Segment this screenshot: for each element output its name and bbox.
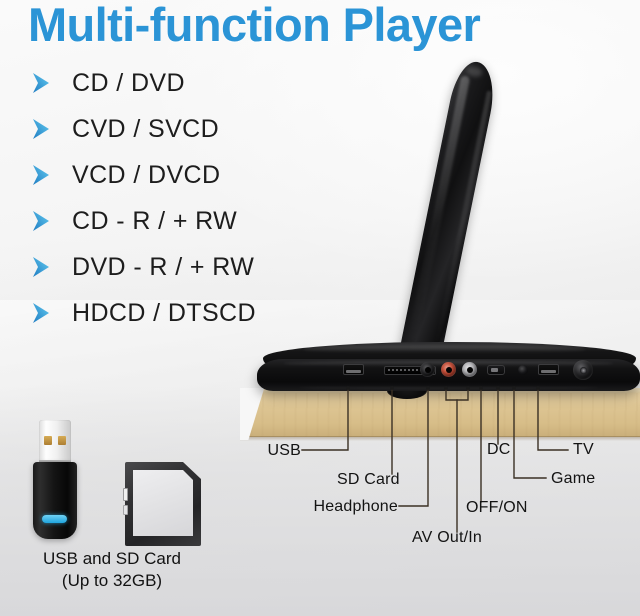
format-label: VCD / DVCD	[72, 161, 220, 190]
chevron-right-icon	[30, 71, 52, 95]
base-top-sheen	[303, 345, 586, 353]
shelf-left-bevel	[240, 388, 284, 440]
usb-drive-body	[33, 462, 77, 539]
format-item: CD - R / + RW	[30, 198, 256, 244]
format-label: HDCD / DTSCD	[72, 299, 256, 328]
format-item: CD / DVD	[30, 60, 256, 106]
media-support-caption: USB and SD Card (Up to 32GB)	[8, 548, 216, 593]
callout-label-tv: TV	[573, 441, 594, 459]
sd-write-protect-switch	[123, 488, 128, 501]
tv-jack-connector[interactable]	[573, 360, 593, 380]
av-out-jack-connector[interactable]	[441, 362, 456, 377]
portable-dvd-player	[255, 48, 640, 393]
supported-formats-list: CD / DVD CVD / SVCD VCD / DVCD	[30, 60, 256, 336]
chevron-right-icon	[30, 117, 52, 141]
base-bottom-highlight	[297, 386, 600, 389]
av-in-jack-connector[interactable]	[462, 362, 477, 377]
format-item: VCD / DVCD	[30, 152, 256, 198]
chevron-right-icon	[30, 255, 52, 279]
shelf-front-face	[240, 393, 640, 437]
port-strip	[255, 358, 640, 384]
usb-connector-metal	[39, 420, 71, 464]
callout-label-headphone: Headphone	[313, 498, 398, 516]
chevron-right-icon	[30, 209, 52, 233]
usb-led-indicator	[42, 515, 67, 523]
callout-label-sd-card: SD Card	[337, 471, 400, 489]
format-item: CVD / SVCD	[30, 106, 256, 152]
callout-label-dc: DC	[487, 441, 511, 459]
callout-label-av: AV Out/In	[412, 529, 482, 547]
media-caption-line-1: USB and SD Card	[8, 548, 216, 570]
shelf-wood-grain	[240, 393, 640, 437]
headphone-jack-connector[interactable]	[420, 362, 435, 377]
player-screen-lid	[395, 58, 500, 378]
wooden-shelf	[240, 388, 640, 440]
format-item: HDCD / DTSCD	[30, 290, 256, 336]
callout-label-off-on: OFF/ON	[466, 499, 528, 517]
sd-memory-card	[125, 462, 201, 546]
dc-jack-connector[interactable]	[518, 365, 528, 375]
format-label: CD / DVD	[72, 69, 185, 98]
sd-side-notch	[123, 505, 128, 515]
format-label: CVD / SVCD	[72, 115, 219, 144]
usb-port-left-connector[interactable]	[343, 364, 364, 375]
page-title: Multi-function Player	[28, 0, 480, 52]
chevron-right-icon	[30, 301, 52, 325]
callout-label-game: Game	[551, 470, 595, 488]
chevron-right-icon	[30, 163, 52, 187]
game-usb-port-connector[interactable]	[538, 364, 559, 375]
format-label: DVD - R / + RW	[72, 253, 254, 282]
media-caption-line-2: (Up to 32GB)	[8, 570, 216, 592]
format-label: CD - R / + RW	[72, 207, 237, 236]
power-switch-connector[interactable]	[487, 365, 505, 375]
format-item: DVD - R / + RW	[30, 244, 256, 290]
sd-card-label-area	[133, 470, 193, 536]
callout-label-usb: USB	[268, 442, 302, 460]
usb-flash-drive	[33, 420, 77, 539]
